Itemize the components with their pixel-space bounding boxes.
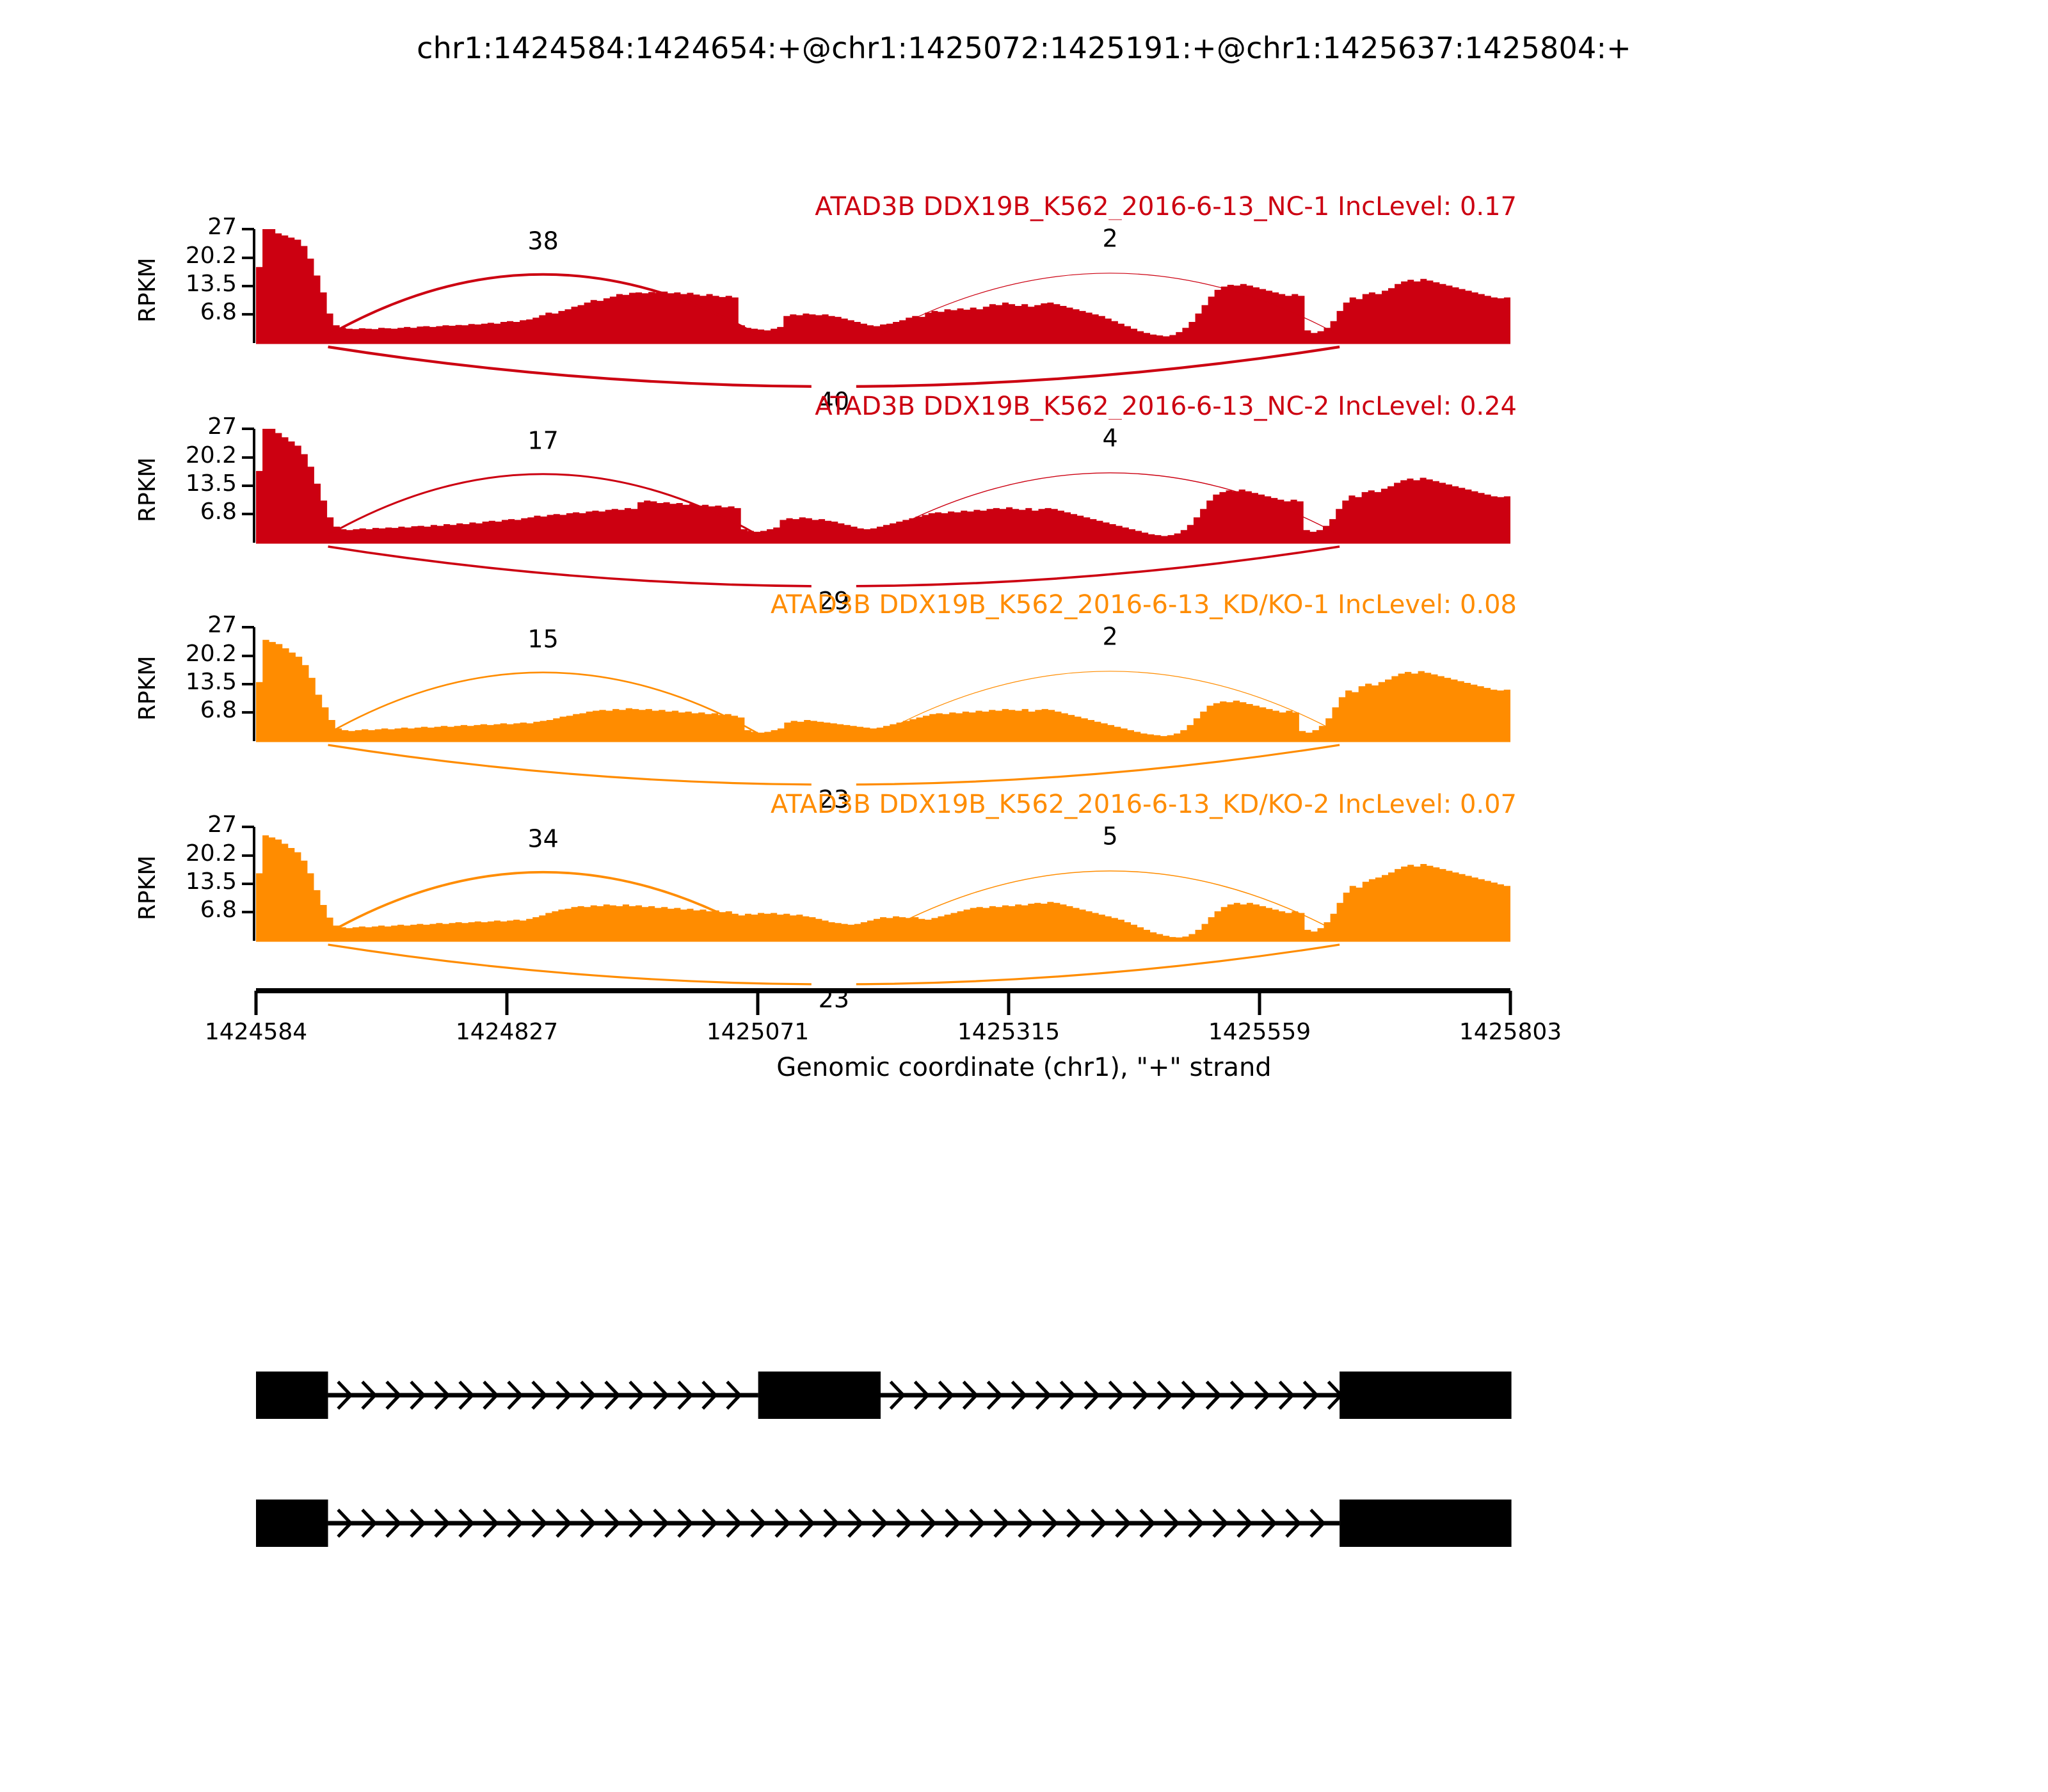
x-axis-title: Genomic coordinate (chr1), "+" strand [0, 1053, 2048, 1082]
gene-model-skipping-isoform [0, 1485, 2048, 1562]
gene-model-inclusion-isoform [0, 1357, 2048, 1434]
coverage-area [256, 640, 1510, 741]
junction-read-count: 5 [1102, 822, 1117, 851]
junction-read-count: 38 [527, 227, 558, 255]
junction-arc [328, 547, 1340, 586]
junction-read-count: 4 [1102, 424, 1117, 452]
junction-read-count: 2 [1102, 225, 1117, 253]
x-axis-canvas [0, 979, 2048, 1030]
coverage-track-3: ATAD3B DDX19B_K562_2016-6-13_KD/KO-1 Inc… [0, 590, 2048, 817]
coverage-track-1: ATAD3B DDX19B_K562_2016-6-13_NC-1 IncLev… [0, 192, 2048, 419]
track-canvas: 38240 [0, 192, 2048, 419]
exon-box [256, 1500, 328, 1547]
junction-arc [328, 745, 1340, 785]
exon-box [758, 1372, 881, 1419]
coverage-area [256, 835, 1510, 941]
track-canvas: 17429 [0, 392, 2048, 618]
junction-arc [328, 945, 1340, 984]
sashimi-plot-page: chr1:1424584:1424654:+@chr1:1425072:1425… [0, 0, 2048, 1792]
junction-read-count: 17 [527, 426, 558, 454]
exon-box [1340, 1372, 1512, 1419]
exon-box [1340, 1500, 1512, 1547]
track-canvas: 15223 [0, 590, 2048, 817]
exon-box [256, 1372, 328, 1419]
coverage-track-2: ATAD3B DDX19B_K562_2016-6-13_NC-2 IncLev… [0, 392, 2048, 618]
junction-read-count: 2 [1102, 623, 1117, 651]
junction-arc [328, 347, 1340, 387]
junction-read-count: 15 [527, 625, 558, 653]
page-title: chr1:1424584:1424654:+@chr1:1425072:1425… [0, 31, 2048, 65]
junction-read-count: 34 [527, 824, 558, 852]
